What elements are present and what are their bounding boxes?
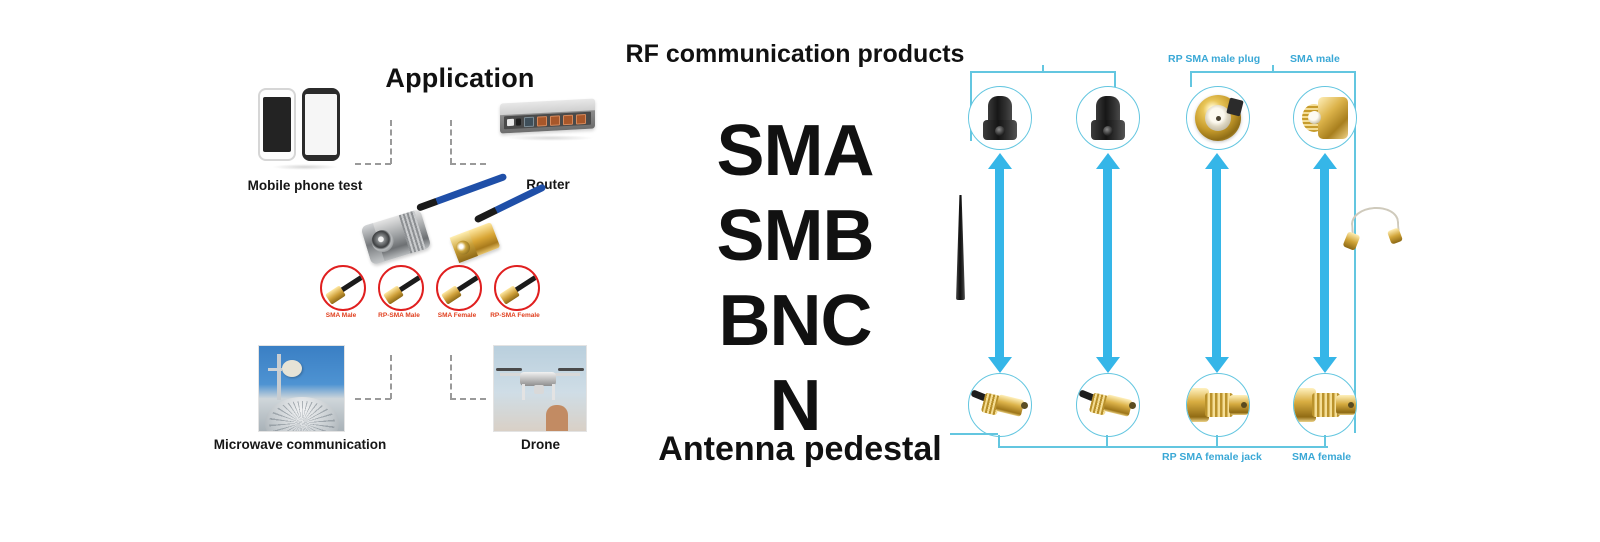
diagram-node-top-4 xyxy=(1293,86,1357,150)
label-microwave-communication: Microwave communication xyxy=(202,437,398,452)
sma-connector xyxy=(450,222,501,263)
gold-jack-connector-icon xyxy=(1081,390,1135,420)
router-shadow xyxy=(506,135,594,141)
rf-products-heading: RF communication products xyxy=(600,40,990,69)
product-line-smb: SMB xyxy=(600,200,990,272)
rf-products-banner: Application Mobile phone test xyxy=(0,0,1600,542)
black-cap-connector-icon xyxy=(983,96,1017,140)
diagram-node-bottom-4 xyxy=(1293,373,1357,437)
mapping-arrow-3 xyxy=(1212,168,1221,358)
top-bracket-left-down2 xyxy=(1114,71,1116,87)
phone-shadow xyxy=(272,164,338,170)
whip-antenna-icon xyxy=(956,195,965,300)
gold-face-connector-icon xyxy=(1195,95,1241,141)
gold-flange-connector-icon xyxy=(1187,388,1249,422)
connector-circle-rp-sma-female xyxy=(494,265,540,311)
application-title: Application xyxy=(340,63,580,94)
mini-label-0: SMA Male xyxy=(310,312,372,319)
bnc-connector xyxy=(361,209,432,265)
connector-variants-row: SMA Male RP-SMA Male SMA Female RP-SMA F… xyxy=(320,265,540,330)
connector-mapping-diagram: RP SMA male plug SMA male xyxy=(940,55,1400,465)
diagram-node-bottom-2 xyxy=(1076,373,1140,437)
gold-jack-connector-icon xyxy=(973,390,1027,420)
diagram-node-bottom-3 xyxy=(1186,373,1250,437)
connector-circle-rp-sma-male xyxy=(378,265,424,311)
bottom-bracket-left-tail xyxy=(950,433,998,435)
top-bracket-right-down1 xyxy=(1190,71,1192,87)
gold-hex-connector-icon xyxy=(1302,97,1348,139)
diagram-node-top-1 xyxy=(968,86,1032,150)
mini-label-3: RP-SMA Female xyxy=(484,312,546,319)
phone-dark-screen xyxy=(258,88,296,161)
top-bracket-left-stem xyxy=(1042,65,1044,73)
dashed-elbow-right xyxy=(448,120,506,165)
dashed-elbow-left xyxy=(355,120,413,165)
mini-label-2: SMA Female xyxy=(426,312,488,319)
connector-circle-sma-female xyxy=(436,265,482,311)
diagram-label-sma-male: SMA male xyxy=(1290,53,1340,65)
drone-image xyxy=(493,345,587,432)
connector-circle-sma-male xyxy=(320,265,366,311)
microwave-communication-image xyxy=(258,345,345,432)
mapping-arrow-2 xyxy=(1103,168,1112,358)
diagram-node-top-2 xyxy=(1076,86,1140,150)
mapping-arrow-1 xyxy=(995,168,1004,358)
label-drone: Drone xyxy=(488,437,593,452)
router-image xyxy=(500,93,610,155)
mobile-phone-image xyxy=(258,88,348,168)
black-cap-connector-icon xyxy=(1091,96,1125,140)
mapping-arrow-4 xyxy=(1320,168,1329,358)
mini-label-1: RP-SMA Male xyxy=(368,312,430,319)
bottom-bracket-rail xyxy=(998,446,1328,448)
application-panel: Application Mobile phone test xyxy=(230,55,605,465)
phone-light-screen xyxy=(302,88,340,161)
gold-flange-connector-icon xyxy=(1294,388,1356,422)
diagram-label-sma-female: SMA female xyxy=(1292,451,1351,463)
diagram-node-bottom-1 xyxy=(968,373,1032,437)
dashed-elbow-bottom-left xyxy=(355,355,413,400)
diagram-label-rp-sma-female-jack: RP SMA female jack xyxy=(1162,451,1262,463)
router-body xyxy=(500,99,595,134)
top-bracket-right-stem xyxy=(1272,65,1274,73)
diagram-label-rp-sma-male-plug: RP SMA male plug xyxy=(1168,53,1260,65)
diagram-node-top-3 xyxy=(1186,86,1250,150)
bnc-sma-cable-photo xyxy=(345,165,530,275)
sma-pigtail-cable-icon xyxy=(1345,203,1401,261)
product-line-sma: SMA xyxy=(600,115,990,187)
product-line-bnc: BNC xyxy=(600,285,990,357)
